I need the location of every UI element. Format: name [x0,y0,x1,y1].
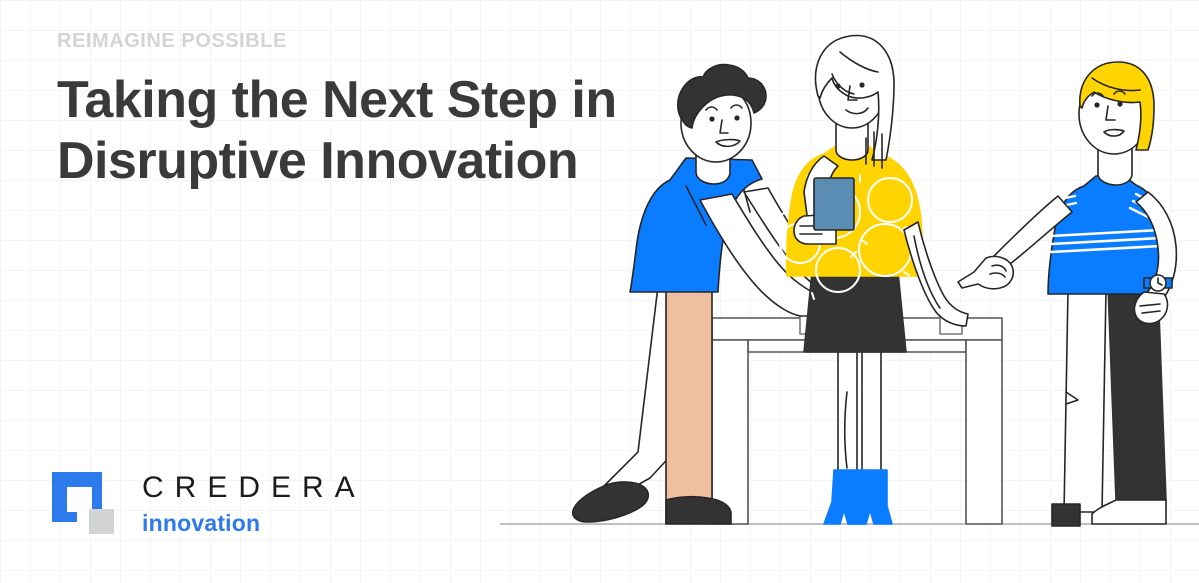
hero-illustration [500,0,1199,583]
eye-left [1094,102,1099,107]
leg-right [862,352,881,482]
eye-left [835,83,840,88]
credera-logo-mark-icon [52,472,114,534]
logo-sub-wordmark: innovation [142,512,366,535]
credera-logo[interactable]: CREDERA innovation [52,472,366,535]
eye-left [709,116,714,121]
logo-text-group: CREDERA innovation [142,472,366,535]
eye-right [734,115,739,120]
illustration-svg [500,0,1199,583]
eye-right [1117,101,1122,106]
figure-man-dark-hair [573,65,846,524]
leg-back-white [1064,290,1106,512]
shoe-left-back [573,482,649,522]
phone [814,178,854,230]
hand-pointing [958,256,1013,288]
shoe-front-white [1092,500,1166,524]
leg-left [838,352,857,482]
logo-wordmark: CREDERA [142,472,366,504]
shoe-back-dark [1052,504,1080,526]
hand-right [1134,292,1167,323]
logo-gray-square [89,509,114,534]
eye-right [859,82,864,87]
banner-root: REIMAGINE POSSIBLE Taking the Next Step … [0,0,1199,583]
